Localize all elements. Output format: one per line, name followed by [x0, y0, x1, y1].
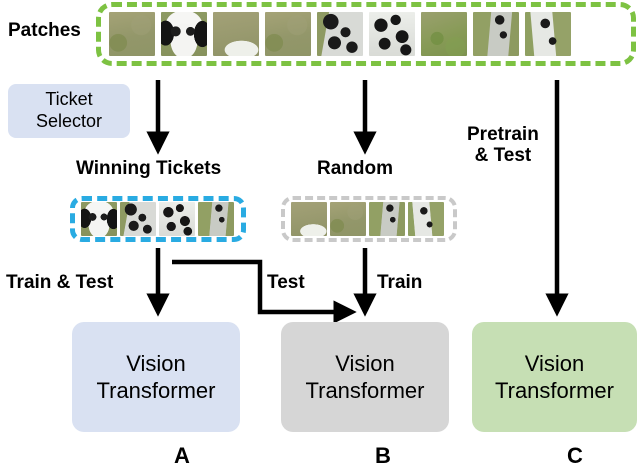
patch-image — [161, 12, 207, 56]
pretrain-test-label: Pretrain & Test — [467, 124, 539, 167]
train-label: Train — [377, 272, 422, 293]
patch-image — [120, 202, 156, 236]
vt-a-line2: Transformer — [97, 377, 216, 405]
patch-image — [317, 12, 363, 56]
train-and-test-label: Train & Test — [6, 272, 113, 293]
ticket-selector-box: Ticket Selector — [8, 84, 130, 138]
random-strip — [281, 196, 457, 242]
diagram-canvas: Patches Ticket Selector Winning Tickets … — [0, 0, 640, 475]
patch-image — [265, 12, 311, 56]
patch-image — [213, 12, 259, 56]
vision-transformer-box-a: Vision Transformer — [72, 322, 240, 432]
patch-image — [159, 202, 195, 236]
vt-c-line2: Transformer — [495, 377, 614, 405]
test-label: Test — [267, 272, 305, 293]
vt-b-line1: Vision — [335, 350, 395, 378]
caption-b: B — [353, 443, 413, 469]
patch-image — [369, 12, 415, 56]
vt-b-line2: Transformer — [306, 377, 425, 405]
patch-image — [408, 202, 444, 236]
patch-image — [525, 12, 571, 56]
caption-c: C — [545, 443, 605, 469]
patch-image — [291, 202, 327, 236]
vision-transformer-box-c: Vision Transformer — [472, 322, 637, 432]
patch-image — [330, 202, 366, 236]
ticket-selector-line1: Ticket — [45, 89, 92, 111]
caption-a: A — [152, 443, 212, 469]
patch-image — [473, 12, 519, 56]
patch-image — [109, 12, 155, 56]
vt-a-line1: Vision — [126, 350, 186, 378]
patches-label: Patches — [8, 20, 81, 41]
ticket-selector-line2: Selector — [36, 111, 102, 133]
patches-strip — [96, 2, 636, 66]
winning-tickets-label: Winning Tickets — [76, 158, 221, 179]
patch-image — [369, 202, 405, 236]
patch-image — [81, 202, 117, 236]
arrow-winning-to-vt-b-test — [172, 262, 352, 312]
winning-tickets-strip — [70, 196, 246, 242]
patch-image — [421, 12, 467, 56]
patch-image — [198, 202, 234, 236]
vision-transformer-box-b: Vision Transformer — [281, 322, 449, 432]
random-label: Random — [317, 158, 393, 179]
vt-c-line1: Vision — [525, 350, 585, 378]
